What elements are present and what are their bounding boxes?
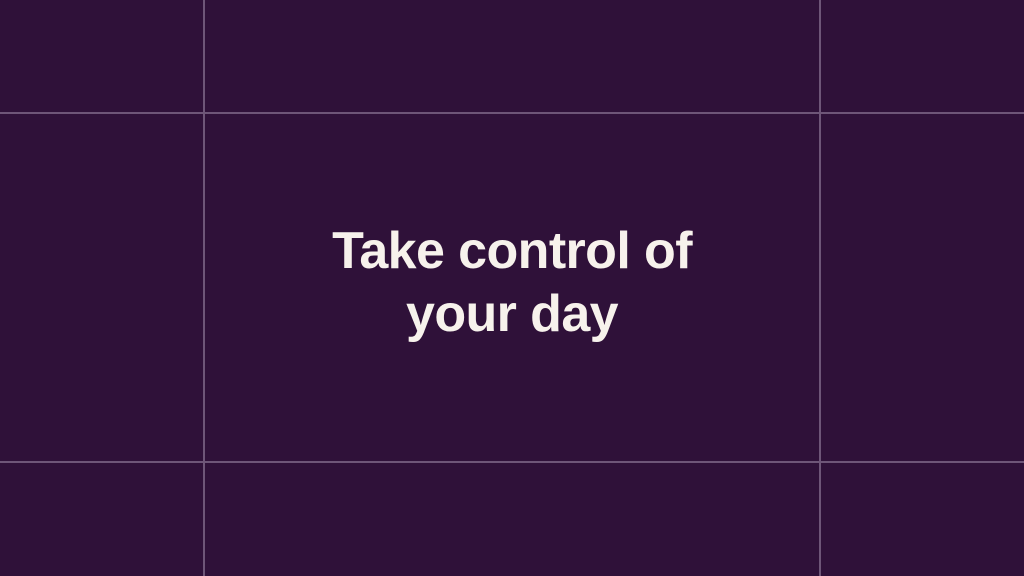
content-area: Take control of your day — [205, 114, 819, 461]
grid-line-vertical-right — [819, 0, 821, 576]
headline: Take control of your day — [205, 220, 819, 346]
grid-line-horizontal-bottom — [0, 461, 1024, 463]
headline-line-1: Take control of — [205, 220, 819, 283]
slide-canvas: Take control of your day — [0, 0, 1024, 576]
headline-line-2: your day — [205, 283, 819, 346]
